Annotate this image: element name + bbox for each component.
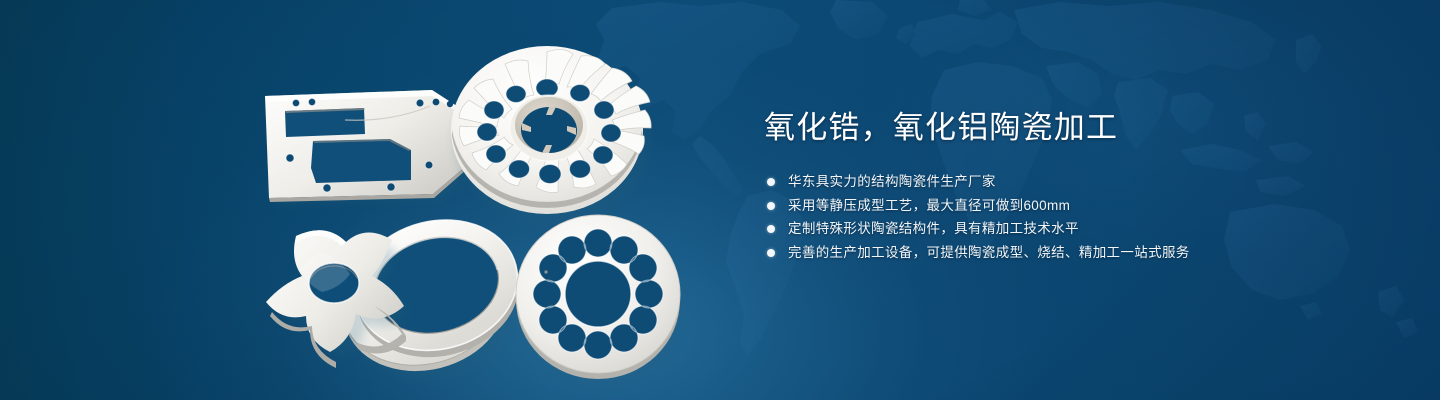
ceramic-perforated-disc-part: [516, 215, 685, 386]
list-item: 定制特殊形状陶瓷结构件，具有精加工技术水平: [767, 217, 1384, 241]
bullet-dot-icon: [767, 225, 775, 233]
banner-text-column: 氧化锆，氧化铝陶瓷加工 华东具实力的结构陶瓷件生产厂家 采用等静压成型工艺，最大…: [764, 108, 1384, 264]
list-item-label: 采用等静压成型工艺，最大直径可做到600mm: [788, 198, 1070, 213]
hero-banner: 氧化锆，氧化铝陶瓷加工 华东具实力的结构陶瓷件生产厂家 采用等静压成型工艺，最大…: [0, 0, 1440, 400]
list-item: 完善的生产加工设备，可提供陶瓷成型、烧结、精加工一站式服务: [767, 241, 1384, 265]
bullet-dot-icon: [767, 202, 775, 210]
list-item-label: 定制特殊形状陶瓷结构件，具有精加工技术水平: [788, 221, 1079, 236]
bullet-dot-icon: [767, 178, 775, 186]
list-item: 采用等静压成型工艺，最大直径可做到600mm: [767, 194, 1384, 218]
list-item: 华东具实力的结构陶瓷件生产厂家: [767, 170, 1384, 194]
ceramic-impeller-part: [451, 46, 651, 226]
list-item-label: 完善的生产加工设备，可提供陶瓷成型、烧结、精加工一站式服务: [788, 245, 1190, 260]
ceramic-cross-part: [266, 230, 411, 368]
list-item-label: 华东具实力的结构陶瓷件生产厂家: [788, 174, 996, 189]
bullet-dot-icon: [767, 249, 775, 257]
ceramic-products-image: [0, 0, 760, 400]
feature-list: 华东具实力的结构陶瓷件生产厂家 采用等静压成型工艺，最大直径可做到600mm 定…: [767, 170, 1384, 264]
page-title: 氧化锆，氧化铝陶瓷加工: [764, 108, 1384, 148]
ceramic-plate-part: [265, 90, 472, 205]
